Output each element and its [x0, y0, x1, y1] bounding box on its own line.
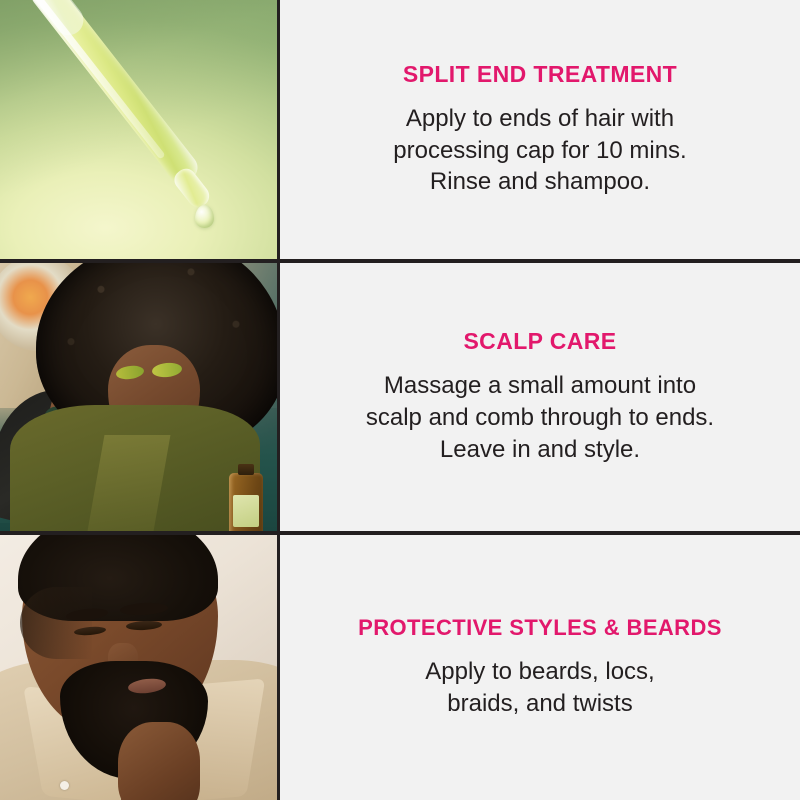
panel-1-body-line-2: processing cap for 10 mins. — [393, 135, 686, 167]
product-usage-infographic: SPLIT END TREATMENT Apply to ends of hai… — [0, 0, 800, 800]
panel-3-body: Apply to beards, locs, braids, and twist… — [425, 656, 654, 720]
shirt-button — [60, 781, 69, 790]
panel-1-heading: SPLIT END TREATMENT — [403, 61, 677, 89]
panel-protective-styles-and-beards: PROTECTIVE STYLES & BEARDS Apply to bear… — [0, 535, 800, 800]
panel-1-body-line-1: Apply to ends of hair with — [393, 103, 686, 135]
panel-1-content: SPLIT END TREATMENT Apply to ends of hai… — [280, 0, 800, 259]
panel-split-end-treatment: SPLIT END TREATMENT Apply to ends of hai… — [0, 0, 800, 259]
pipette-illustration — [0, 0, 280, 259]
panel-2-body-line-3: Leave in and style. — [366, 434, 714, 466]
panel-scalp-care: SCALP CARE Massage a small amount into s… — [0, 263, 800, 530]
man-with-full-beard-photo — [0, 535, 280, 800]
woman-with-natural-afro-photo — [0, 263, 280, 530]
bottle-label — [233, 495, 259, 527]
panel-2-body: Massage a small amount into scalp and co… — [366, 370, 714, 466]
hair-fade-shading — [20, 587, 92, 659]
panel-1-body: Apply to ends of hair with processing ca… — [393, 103, 686, 199]
glass-dropper-with-oil-photo — [0, 0, 280, 259]
panel-3-content: PROTECTIVE STYLES & BEARDS Apply to bear… — [280, 535, 800, 800]
panel-3-heading: PROTECTIVE STYLES & BEARDS — [358, 615, 722, 641]
panel-2-body-line-2: scalp and comb through to ends. — [366, 402, 714, 434]
bottle-dropper-cap — [238, 464, 254, 475]
panel-1-body-line-3: Rinse and shampoo. — [393, 166, 686, 198]
hair-oil-bottle — [229, 473, 263, 531]
panel-3-body-line-2: braids, and twists — [425, 688, 654, 720]
panel-2-content: SCALP CARE Massage a small amount into s… — [280, 263, 800, 530]
panel-2-body-line-1: Massage a small amount into — [366, 370, 714, 402]
panel-3-body-line-1: Apply to beards, locs, — [425, 656, 654, 688]
hand-on-chin — [118, 722, 200, 800]
panel-2-heading: SCALP CARE — [463, 328, 616, 356]
oil-droplet — [195, 205, 214, 228]
